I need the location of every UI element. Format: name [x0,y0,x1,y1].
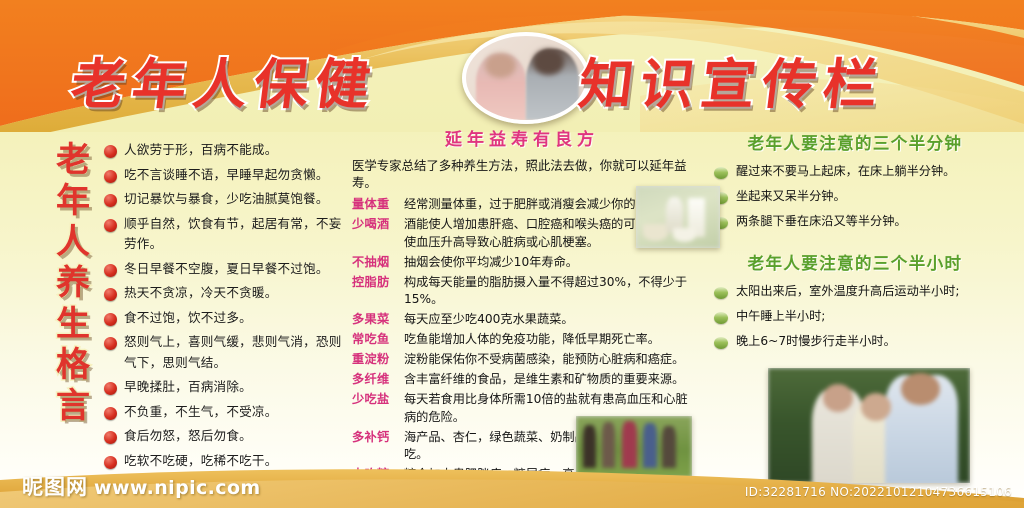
poster-root: 老年人保健 知识宣传栏 老 年 人 养 生 格 言 人欲劳于形，百病不能成。 吃… [0,0,1024,508]
header-couple-photo [462,32,590,124]
center-heading: 延年益寿有良方 [352,125,692,150]
photo-oats-bowl [643,224,668,240]
right-heading-half-minutes: 老年人要注意的三个半分钟 [700,130,1010,154]
photo-person [602,422,616,468]
tip-key: 多补钙 [352,429,404,447]
tip-text: 每天应至少吃400克水果蔬菜。 [404,311,692,329]
tip-key: 控脂肪 [352,274,404,292]
list-item: 食不过饱，饮不过多。 [104,308,344,329]
red-bullet-icon [104,219,117,232]
list-item: 两条腿下垂在床沿又等半分钟。 [700,213,1010,230]
tip-key: 多纤维 [352,371,404,389]
page-title-left: 老年人保健 [67,40,382,119]
maxim-text: 切记暴饮与暴食，少吃油腻莫饱餐。 [124,189,329,210]
maxim-text: 人欲劳于形，百病不能成。 [124,140,278,161]
photo-face [861,393,891,421]
maxim-text: 吃不言谈睡不语，早睡早起勿贪懒。 [124,165,329,186]
tip-text: 构成每天能量的脂肪摄入量不得超过30%，不得少于15%。 [404,274,692,309]
red-bullet-icon [104,145,117,158]
red-bullet-icon [104,288,117,301]
list-item: 中午睡上半小时; [700,308,1010,325]
photo-person [622,421,637,468]
photo-yogurt-bowl [673,228,697,242]
tip-key: 量体重 [352,196,404,214]
footer-banner: 昵图网 www.nipic.com ID:32281716 NO:2022101… [0,466,1024,508]
green-bullet-icon [714,167,728,179]
maxim-text: 顺乎自然，饮食有节，起居有常，不妄劳作。 [124,214,344,255]
list-item: 热天不贪凉，冷天不贪暖。 [104,283,344,304]
watermark: 昵图网 www.nipic.com [22,471,261,501]
table-row: 控脂肪构成每天能量的脂肪摄入量不得超过30%，不得少于15%。 [352,274,692,309]
maxim-text: 热天不贪凉，冷天不贪暖。 [124,283,278,304]
tip-key: 少吃盐 [352,391,404,409]
tip-text: 坐起来又呆半分钟。 [736,188,846,205]
green-bullet-icon [714,337,728,349]
left-vertical-title: 老 年 人 养 生 格 言 [36,140,110,427]
red-bullet-icon [104,264,117,277]
list-item: 切记暴饮与暴食，少吃油腻莫饱餐。 [104,189,344,210]
maxim-text: 食不过饱，饮不过多。 [124,308,252,329]
tip-text: 含丰富纤维的食品，是维生素和矿物质的重要来源。 [404,371,692,389]
red-bullet-icon [104,337,117,350]
tip-key: 少喝酒 [352,216,404,234]
vtitle-char: 格 [36,345,110,386]
vtitle-char: 人 [36,222,110,263]
photo-face-right [533,49,564,74]
list-item: 顺乎自然，饮食有节，起居有常，不妄劳作。 [104,214,344,255]
maxim-text: 早晚揉肚，百病消除。 [124,377,252,398]
list-item: 不负重，不生气，不受凉。 [104,402,344,423]
maxim-text: 冬日早餐不空腹，夏日早餐不过饱。 [124,259,329,280]
left-maxims-list: 人欲劳于形，百病不能成。 吃不言谈睡不语，早睡早起勿贪懒。 切记暴饮与暴食，少吃… [104,140,344,475]
table-row: 多纤维含丰富纤维的食品，是维生素和矿物质的重要来源。 [352,371,692,389]
photo-person [583,425,596,468]
list-item: 醒过来不要马上起床，在床上躺半分钟。 [700,163,1010,180]
image-id-text: ID:32281716 NO:20221012104736615106 [745,485,1012,499]
tip-text: 吃鱼能增加人体的免疫功能，降低早期死亡率。 [404,331,692,349]
green-bullet-icon [714,312,728,324]
red-bullet-icon [104,407,117,420]
tip-key: 常吃鱼 [352,331,404,349]
list-item: 冬日早餐不空腹，夏日早餐不过饱。 [104,259,344,280]
green-bullet-icon [714,287,728,299]
red-bullet-icon [104,170,117,183]
tip-text: 两条腿下垂在床沿又等半分钟。 [736,213,907,230]
maxim-text: 食后勿怒，怒后勿食。 [124,426,252,447]
vtitle-char: 生 [36,304,110,345]
vtitle-char: 老 [36,140,110,181]
vtitle-char: 养 [36,263,110,304]
table-row: 常吃鱼吃鱼能增加人体的免疫功能，降低早期死亡率。 [352,331,692,349]
tip-text: 晚上6~7时慢步行走半小时。 [736,333,896,350]
vtitle-char: 言 [36,386,110,427]
list-item: 怒则气上，喜则气缓，悲则气消，恐则气下，思则气结。 [104,332,344,373]
photo-face [901,373,939,405]
watermark-logo: 昵图网 [22,471,88,501]
table-row: 不抽烟抽烟会使你平均减少10年寿命。 [352,254,692,272]
list-item: 吃不言谈睡不语，早睡早起勿贪懒。 [104,165,344,186]
tip-key: 重淀粉 [352,351,404,369]
tip-text: 淀粉能保佑你不受病菌感染，能预防心脏病和癌症。 [404,351,692,369]
photo-person [643,423,657,468]
photo-blur-layer [636,186,720,248]
maxim-text: 不负重，不生气，不受凉。 [124,402,278,423]
list-item: 太阳出来后，室外温度升高后运动半小时; [700,283,1010,300]
list-item: 早晚揉肚，百病消除。 [104,377,344,398]
table-row: 重淀粉淀粉能保佑你不受病菌感染，能预防心脏病和癌症。 [352,351,692,369]
red-bullet-icon [104,313,117,326]
red-bullet-icon [104,382,117,395]
vtitle-char: 年 [36,181,110,222]
photo-person [662,426,676,468]
dairy-food-photo [636,186,720,248]
list-item: 食后勿怒，怒后勿食。 [104,426,344,447]
tip-text: 抽烟会使你平均减少10年寿命。 [404,254,692,272]
maxim-text: 怒则气上，喜则气缓，悲则气消，恐则气下，思则气结。 [124,332,344,373]
right-heading-half-hours: 老年人要注意的三个半小时 [700,250,1010,274]
list-item: 晚上6~7时慢步行走半小时。 [700,333,1010,350]
tip-key: 不抽烟 [352,254,404,272]
tip-text: 太阳出来后，室外温度升高后运动半小时; [736,283,959,300]
page-title-right: 知识宣传栏 [575,40,890,119]
red-bullet-icon [104,431,117,444]
tip-text: 醒过来不要马上起床，在床上躺半分钟。 [736,163,955,180]
list-item: 坐起来又呆半分钟。 [700,188,1010,205]
photo-face [823,384,853,412]
tip-text: 中午睡上半小时; [736,308,825,325]
table-row: 多果菜每天应至少吃400克水果蔬菜。 [352,311,692,329]
watermark-url: www.nipic.com [94,477,261,499]
list-item: 人欲劳于形，百病不能成。 [104,140,344,161]
right-column: 老年人要注意的三个半分钟 醒过来不要马上起床，在床上躺半分钟。 坐起来又呆半分钟… [700,130,1010,358]
tip-key: 多果菜 [352,311,404,329]
red-bullet-icon [104,194,117,207]
